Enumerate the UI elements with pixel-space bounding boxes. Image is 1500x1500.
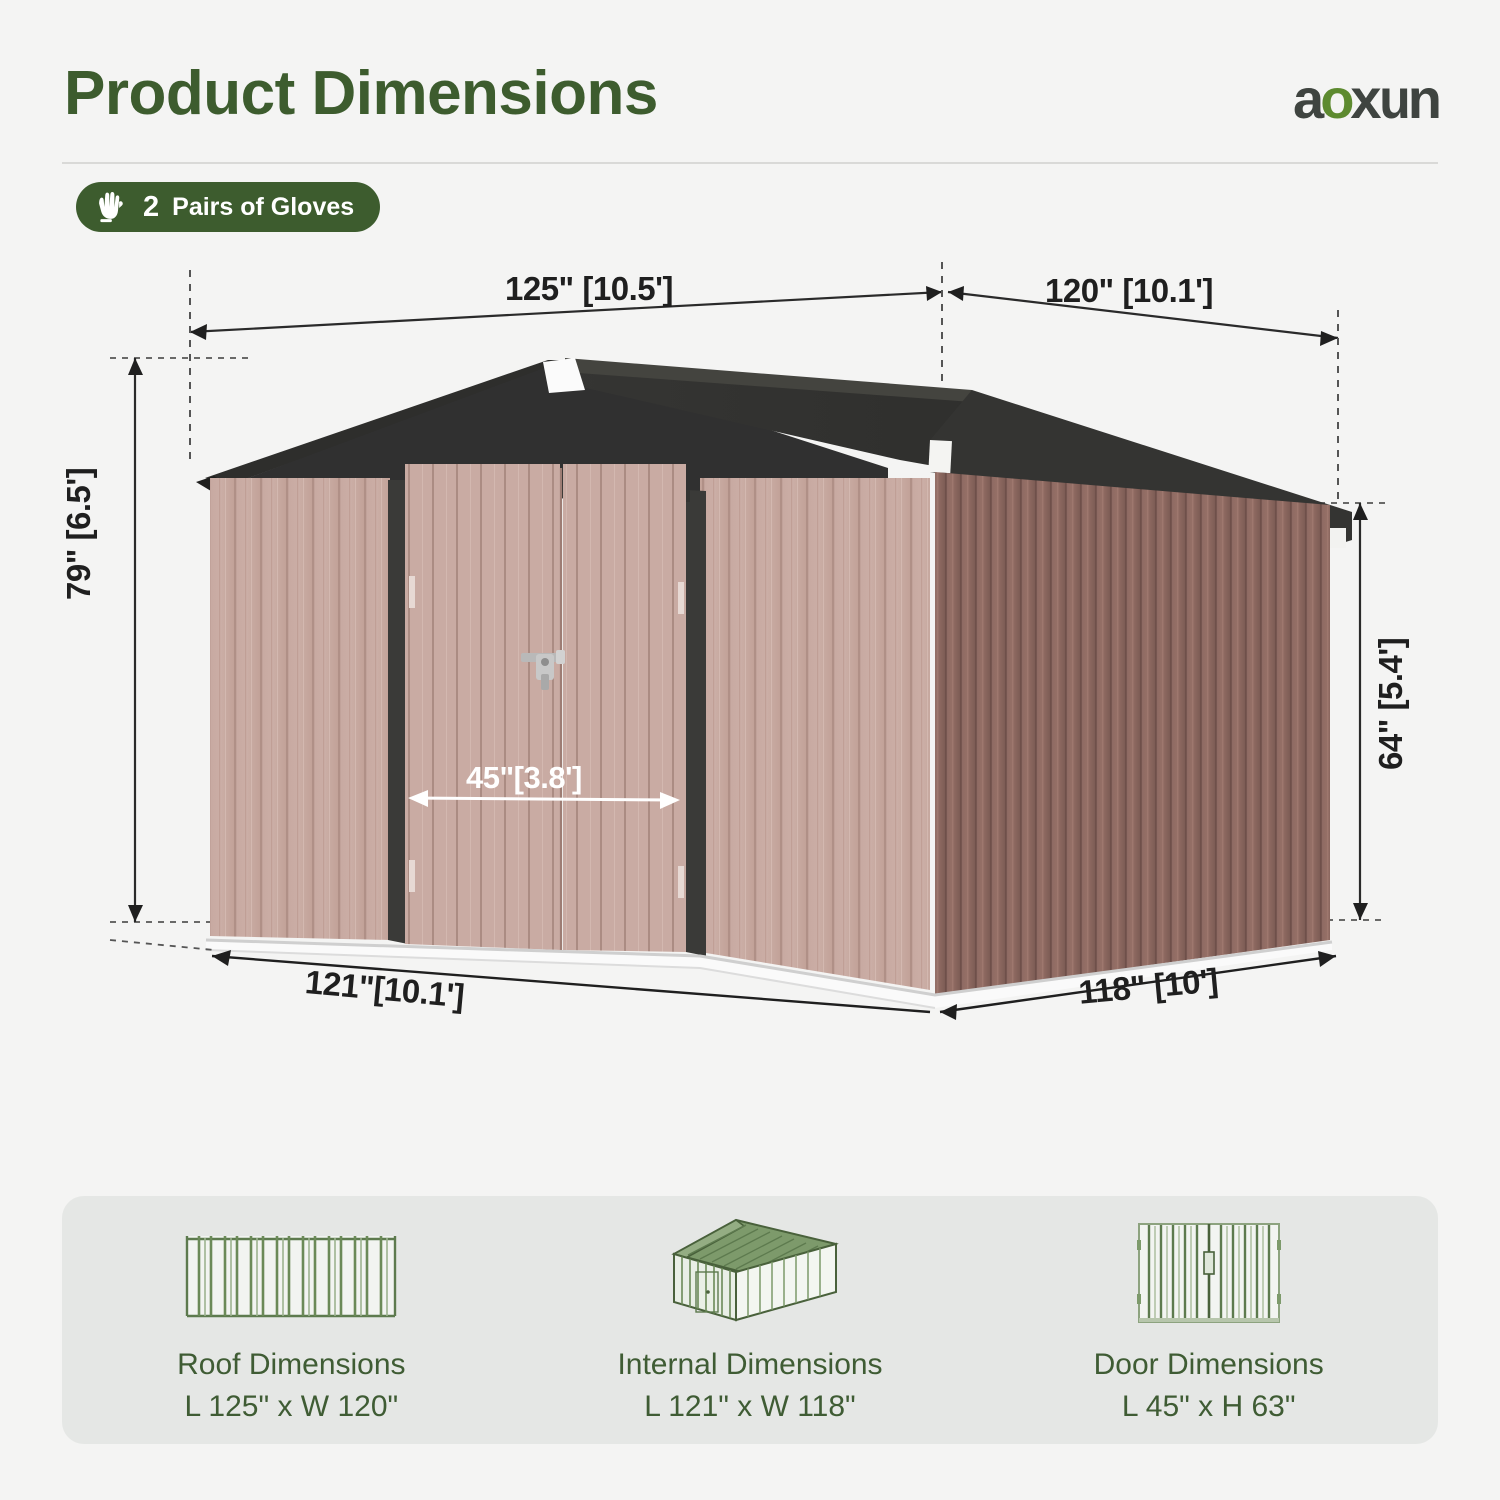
spec-panel: Roof Dimensions L 125" x W 120" (62, 1196, 1438, 1444)
dim-wall-height: 64" [5.4'] (1372, 638, 1410, 770)
double-door-icon (1129, 1218, 1289, 1326)
roof-panel-icon (181, 1218, 401, 1326)
logo-letter-u: u (1379, 66, 1407, 131)
gloves-count: 2 (143, 191, 159, 224)
gloves-badge: 2 Pairs of Gloves (76, 182, 380, 232)
infographic-page: Product Dimensions aoxun 2 Pairs of Glov… (0, 0, 1500, 1500)
spec-card-roof-name: Roof Dimensions (177, 1348, 405, 1382)
spec-card-door-value: L 45" x H 63" (1122, 1390, 1296, 1424)
brand-logo: aoxun (1293, 66, 1438, 131)
logo-letter-x: x (1350, 67, 1377, 130)
logo-letter-a: a (1293, 67, 1320, 130)
logo-letter-o: o (1320, 67, 1350, 130)
spec-card-door-name: Door Dimensions (1094, 1348, 1324, 1382)
logo-letter-n: n (1408, 67, 1438, 130)
dim-roof-width: 120" [10.1'] (1045, 272, 1213, 310)
gloves-icon (92, 190, 130, 224)
dim-door-width: 45"[3.8'] (466, 760, 582, 796)
shed-3d-icon (640, 1218, 860, 1326)
spec-card-internal: Internal Dimensions L 121" x W 118" (521, 1196, 980, 1444)
page-title: Product Dimensions (64, 58, 658, 129)
spec-card-roof: Roof Dimensions L 125" x W 120" (62, 1196, 521, 1444)
spec-card-roof-value: L 125" x W 120" (185, 1390, 399, 1424)
spec-card-door: Door Dimensions L 45" x H 63" (979, 1196, 1438, 1444)
spec-card-internal-name: Internal Dimensions (617, 1348, 882, 1382)
shed-illustration (0, 250, 1500, 1070)
gloves-label: Pairs of Gloves (172, 193, 354, 222)
spec-card-internal-value: L 121" x W 118" (644, 1390, 855, 1424)
dim-roof-length: 125" [10.5'] (505, 270, 673, 308)
dim-overall-height: 79" [6.5'] (60, 468, 98, 600)
header-divider (62, 162, 1438, 164)
